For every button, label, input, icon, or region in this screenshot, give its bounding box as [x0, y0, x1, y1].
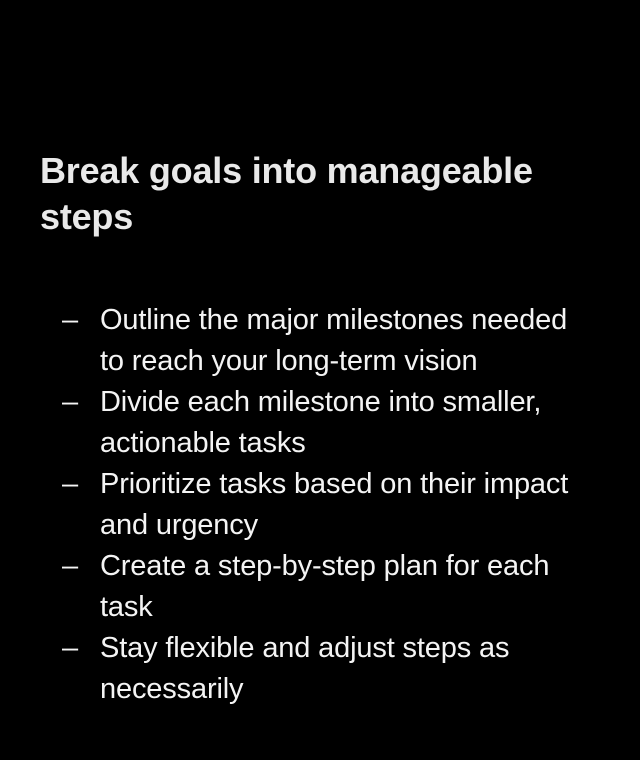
- list-item-text: Divide each milestone into smaller, acti…: [100, 382, 587, 464]
- slide-canvas: Break goals into manageable steps – Outl…: [0, 0, 640, 760]
- bullet-list: – Outline the major milestones needed to…: [62, 300, 602, 710]
- page-title: Break goals into manageable steps: [40, 148, 580, 240]
- list-item: – Create a step-by-step plan for each ta…: [62, 546, 602, 628]
- dash-bullet-icon: –: [62, 382, 100, 423]
- list-item: – Stay flexible and adjust steps as nece…: [62, 628, 602, 710]
- list-item: – Divide each milestone into smaller, ac…: [62, 382, 602, 464]
- list-item-text: Prioritize tasks based on their impact a…: [100, 464, 587, 546]
- list-item-text: Create a step-by-step plan for each task: [100, 546, 587, 628]
- dash-bullet-icon: –: [62, 546, 100, 587]
- list-item-text: Stay flexible and adjust steps as necess…: [100, 628, 587, 710]
- list-item: – Outline the major milestones needed to…: [62, 300, 602, 382]
- dash-bullet-icon: –: [62, 464, 100, 505]
- dash-bullet-icon: –: [62, 300, 100, 341]
- list-item-text: Outline the major milestones needed to r…: [100, 300, 587, 382]
- dash-bullet-icon: –: [62, 628, 100, 669]
- list-item: – Prioritize tasks based on their impact…: [62, 464, 602, 546]
